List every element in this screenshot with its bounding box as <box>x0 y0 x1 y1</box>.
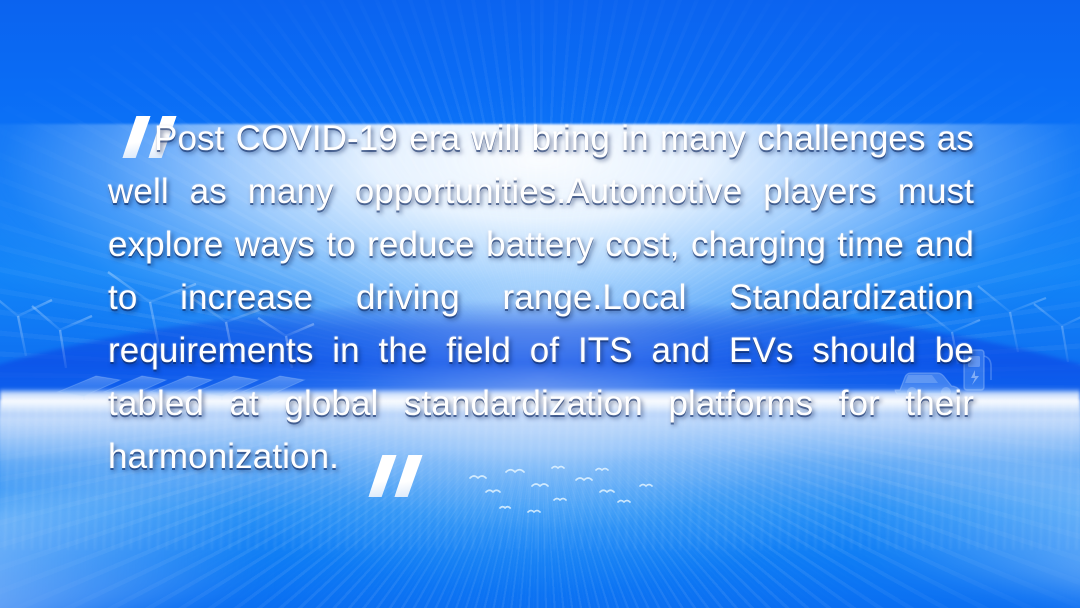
slide-canvas: Post COVID-19 era will bring in many cha… <box>0 0 1080 608</box>
quote-line-7: harmonization. <box>108 437 339 476</box>
quote-line-5: requirements in the field of ITS and EVs… <box>108 331 974 370</box>
quote-line-4: to increase driving range.Local Standard… <box>108 278 974 317</box>
quote-line-3: explore ways to reduce battery cost, cha… <box>108 225 974 264</box>
quote-block: Post COVID-19 era will bring in many cha… <box>108 112 974 483</box>
quote-line-1: Post COVID-19 era will bring in many cha… <box>154 119 926 158</box>
quote-text: Post COVID-19 era will bring in many cha… <box>108 112 974 483</box>
close-quote-mark <box>372 455 432 499</box>
quote-line-6: tabled at global standardization platfor… <box>108 384 974 423</box>
